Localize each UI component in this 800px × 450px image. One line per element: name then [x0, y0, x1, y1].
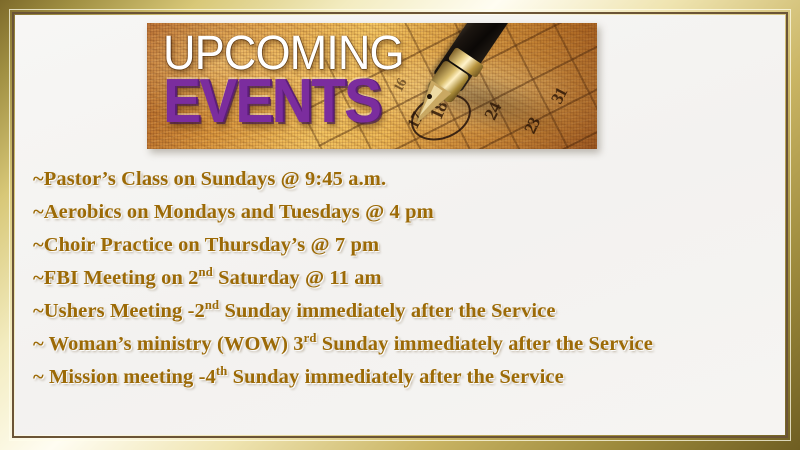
event-item-ushers-meeting: ~Ushers Meeting -2nd Sunday immediately … — [33, 295, 775, 328]
slide-content-area: 16 17 18 24 23 31 UPCOMING EVENTS — [15, 15, 785, 435]
ordinal-suffix: th — [216, 364, 228, 378]
event-list: ~Pastor’s Class on Sundays @ 9:45 a.m. ~… — [33, 163, 775, 394]
ordinal-suffix: nd — [205, 298, 219, 312]
ordinal-suffix: nd — [199, 265, 213, 279]
event-item-pastors-class: ~Pastor’s Class on Sundays @ 9:45 a.m. — [33, 163, 775, 196]
event-item-womans-ministry: ~ Woman’s ministry (WOW) 3rd Sunday imme… — [33, 328, 775, 361]
slide: 16 17 18 24 23 31 UPCOMING EVENTS — [0, 0, 800, 450]
event-item-choir-practice: ~Choir Practice on Thursday’s @ 7 pm — [33, 229, 775, 262]
event-text-pre: ~ Woman’s ministry (WOW) 3 — [33, 333, 304, 355]
event-item-fbi-meeting: ~FBI Meeting on 2nd Saturday @ 11 am — [33, 262, 775, 295]
event-text-post: Saturday @ 11 am — [213, 267, 382, 289]
event-text-post: Sunday immediately after the Service — [317, 333, 653, 355]
ordinal-suffix: rd — [304, 331, 317, 345]
event-text-post: Sunday immediately after the Service — [219, 300, 555, 322]
upcoming-events-banner: 16 17 18 24 23 31 UPCOMING EVENTS — [147, 23, 597, 149]
event-text-post: Sunday immediately after the Service — [227, 366, 563, 388]
event-text-pre: ~Ushers Meeting -2 — [33, 300, 205, 322]
event-text-pre: ~ Mission meeting -4 — [33, 366, 216, 388]
banner-headline: UPCOMING EVENTS — [163, 29, 419, 131]
event-item-aerobics: ~Aerobics on Mondays and Tuesdays @ 4 pm — [33, 196, 775, 229]
event-text-pre: ~FBI Meeting on 2 — [33, 267, 199, 289]
event-item-mission-meeting: ~ Mission meeting -4th Sunday immediatel… — [33, 361, 775, 394]
banner-headline-events: EVENTS — [163, 73, 399, 131]
banner-artwork: 16 17 18 24 23 31 UPCOMING EVENTS — [147, 23, 597, 149]
